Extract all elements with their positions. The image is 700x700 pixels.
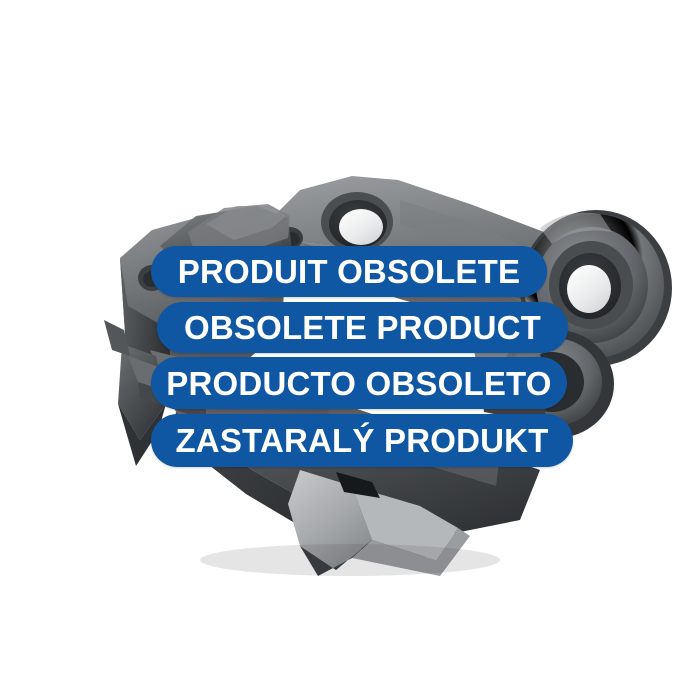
obsolete-banner-english[interactable]: OBSOLETE PRODUCT [157,302,568,353]
obsolete-banner-english-label: OBSOLETE PRODUCT [184,311,541,344]
obsolete-banner-spanish-label: PRODUCTO OBSOLETO [166,367,551,400]
screenshot-canvas: PRODUIT OBSOLETE OBSOLETE PRODUCT PRODUC… [0,0,700,700]
obsolete-banner-spanish[interactable]: PRODUCTO OBSOLETO [151,357,567,409]
obsolete-banner-french-label: PRODUIT OBSOLETE [178,255,520,288]
obsolete-banner-french[interactable]: PRODUIT OBSOLETE [151,246,547,297]
obsolete-banner-czech[interactable]: ZASTARALÝ PRODUKT [151,414,573,467]
obsolete-banner-czech-label: ZASTARALÝ PRODUKT [175,424,548,457]
